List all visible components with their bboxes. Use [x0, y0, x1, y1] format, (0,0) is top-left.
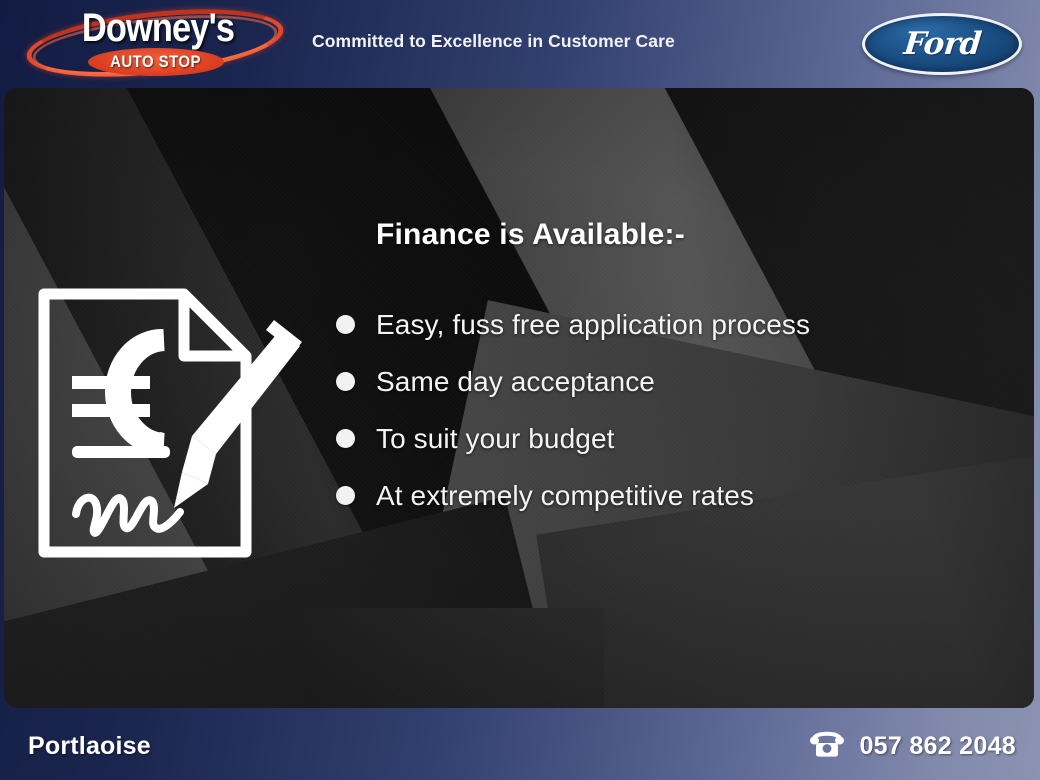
bullet-dot-icon: [336, 372, 355, 391]
brand-name: Downey's: [72, 6, 244, 50]
list-item: To suit your budget: [376, 410, 1016, 467]
page-title: Finance is Available:-: [376, 218, 1016, 252]
phone-number-text: 057 862 2048: [859, 732, 1016, 761]
tagline-text: Committed to Excellence in Customer Care: [312, 31, 675, 52]
bullet-dot-icon: [336, 315, 355, 334]
ford-oval-logo-icon[interactable]: Ford: [862, 13, 1022, 75]
list-item-label: Easy, fuss free application process: [376, 309, 810, 341]
list-item-label: Same day acceptance: [376, 366, 655, 398]
location-text: Portlaoise: [28, 732, 151, 761]
ford-oval-shape: Ford: [862, 13, 1022, 75]
phone-contact[interactable]: 057 862 2048: [810, 730, 1016, 763]
main-content-panel: Finance is Available:- Easy, fuss free a…: [4, 88, 1034, 708]
ford-wordmark: Ford: [902, 26, 983, 62]
advert-banner: Downey's AUTO STOP Committed to Excellen…: [0, 0, 1040, 780]
bullet-dot-icon: [336, 429, 355, 448]
list-item: Same day acceptance: [376, 353, 1016, 410]
downeys-oval-logo-icon[interactable]: Downey's AUTO STOP: [22, 4, 288, 84]
brand-sub-pill: AUTO STOP: [88, 48, 224, 76]
header-bar: Downey's AUTO STOP Committed to Excellen…: [0, 0, 1040, 88]
bullet-dot-icon: [336, 486, 355, 505]
list-item-label: To suit your budget: [376, 423, 615, 455]
footer-bar: Portlaoise 057 862 2048: [0, 712, 1040, 780]
finance-text-block: Finance is Available:- Easy, fuss free a…: [376, 218, 1016, 524]
list-item: At extremely competitive rates: [376, 467, 1016, 524]
list-item: Easy, fuss free application process: [376, 296, 1016, 353]
finance-document-euro-signature-icon: [34, 278, 314, 568]
brand-sub-name: AUTO STOP: [111, 52, 202, 72]
telephone-icon: [810, 730, 844, 763]
list-item-label: At extremely competitive rates: [376, 480, 754, 512]
